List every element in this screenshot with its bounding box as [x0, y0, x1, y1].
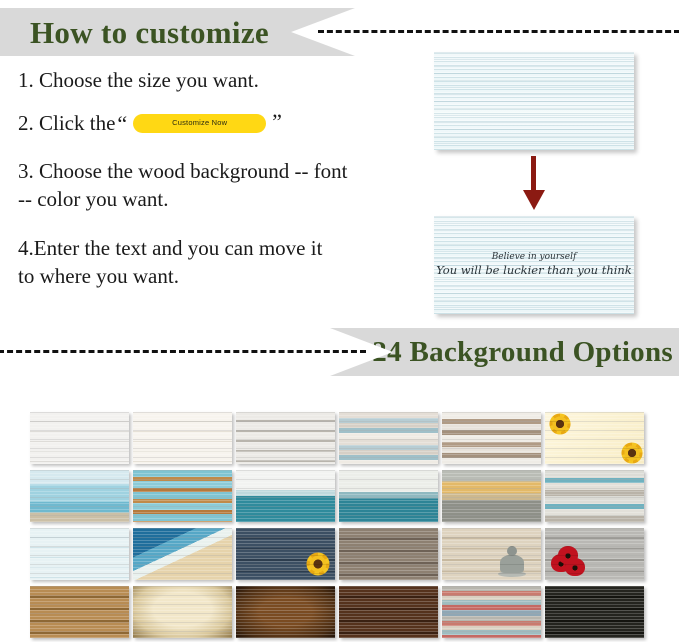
poppy-icon [551, 554, 571, 572]
background-thumbnail-navy-wood-sunflower[interactable] [236, 528, 335, 580]
sunflower-icon [621, 442, 643, 464]
buddha-head [507, 546, 517, 556]
step-2-prefix: 2. Click the [18, 113, 115, 134]
quote-close: ” [272, 111, 282, 133]
instruction-list: 1. Choose the size you want. 2. Click th… [18, 70, 408, 310]
step-4: 4.Enter the text and you can move it to … [18, 234, 408, 291]
buddha-body [500, 555, 524, 573]
step-1: 1. Choose the size you want. [18, 70, 408, 91]
sign-text: Believe in yourself You will be luckier … [436, 252, 632, 278]
background-thumbnail-teal-white-splash-two[interactable] [339, 470, 438, 522]
sign-text-line-1: Believe in yourself [436, 252, 632, 263]
background-thumbnail-red-poppies-grey-wood[interactable] [545, 528, 644, 580]
background-thumbnail-light-blue-smooth-planks[interactable] [30, 528, 129, 580]
blank-wood-panel-preview [434, 52, 634, 150]
background-thumbnail-dark-brown-grain[interactable] [236, 586, 335, 638]
page-root: How to customize 1. Choose the size you … [0, 0, 679, 642]
arrow-shaft [531, 156, 536, 194]
dashed-line-top [318, 30, 679, 33]
background-thumbnail-brown-white-rustic-planks[interactable] [442, 412, 541, 464]
background-thumbnail-black-chalkboard-planks[interactable] [545, 586, 644, 638]
background-thumbnail-zen-buddha-stones[interactable] [442, 528, 541, 580]
preview-section: Believe in yourself You will be luckier … [434, 52, 647, 314]
background-thumbnail-grid [30, 412, 644, 638]
background-thumbnail-teal-white-splash[interactable] [236, 470, 335, 522]
background-thumbnail-deep-brown-planks[interactable] [339, 586, 438, 638]
background-thumbnail-grey-brown-barn-wood[interactable] [339, 528, 438, 580]
background-thumbnail-golden-sunset-seascape[interactable] [442, 470, 541, 522]
arrow-head [523, 190, 545, 210]
background-thumbnail-white-distressed-planks[interactable] [30, 412, 129, 464]
down-arrow-icon [523, 156, 545, 212]
sunflower-icon [306, 552, 330, 576]
background-thumbnail-white-grey-weathered-planks[interactable] [236, 412, 335, 464]
customize-now-button[interactable]: Customize Now [133, 114, 266, 133]
quote-open: “ [117, 113, 127, 135]
step-2: 2. Click the “ Customize Now ” [18, 111, 408, 135]
banner-background-options: 24 Background Options [330, 328, 679, 376]
poppy-icon [565, 558, 585, 576]
customize-now-label: Customize Now [172, 119, 227, 127]
background-thumbnail-cream-sunflower[interactable] [545, 412, 644, 464]
background-thumbnail-teal-rust-peeled-planks[interactable] [133, 470, 232, 522]
buddha-statue-icon [499, 546, 525, 576]
background-options-title: 24 Background Options [372, 338, 673, 367]
page-title: How to customize [30, 17, 269, 48]
background-thumbnail-warm-brown-planks[interactable] [30, 586, 129, 638]
background-thumbnail-vintage-parchment[interactable] [133, 586, 232, 638]
background-thumbnail-teal-grey-plank-mix[interactable] [545, 470, 644, 522]
background-thumbnail-pastel-multicolor-planks[interactable] [339, 412, 438, 464]
background-thumbnail-beach-waves-sand[interactable] [133, 528, 232, 580]
customized-wood-panel-preview: Believe in yourself You will be luckier … [434, 216, 634, 314]
background-thumbnail-cream-smooth-planks[interactable] [133, 412, 232, 464]
poppy-icon [558, 546, 578, 564]
background-thumbnail-underwater-coral-reef[interactable] [30, 470, 129, 522]
buddha-base [498, 571, 526, 577]
step-3: 3. Choose the wood background -- font --… [18, 157, 408, 214]
sign-text-line-2: You will be luckier than you think [436, 263, 632, 277]
banner-how-to-customize: How to customize [0, 8, 355, 56]
background-thumbnail-pastel-stripe-planks[interactable] [442, 586, 541, 638]
sunflower-icon [549, 413, 571, 435]
dashed-line-bottom [0, 350, 366, 353]
